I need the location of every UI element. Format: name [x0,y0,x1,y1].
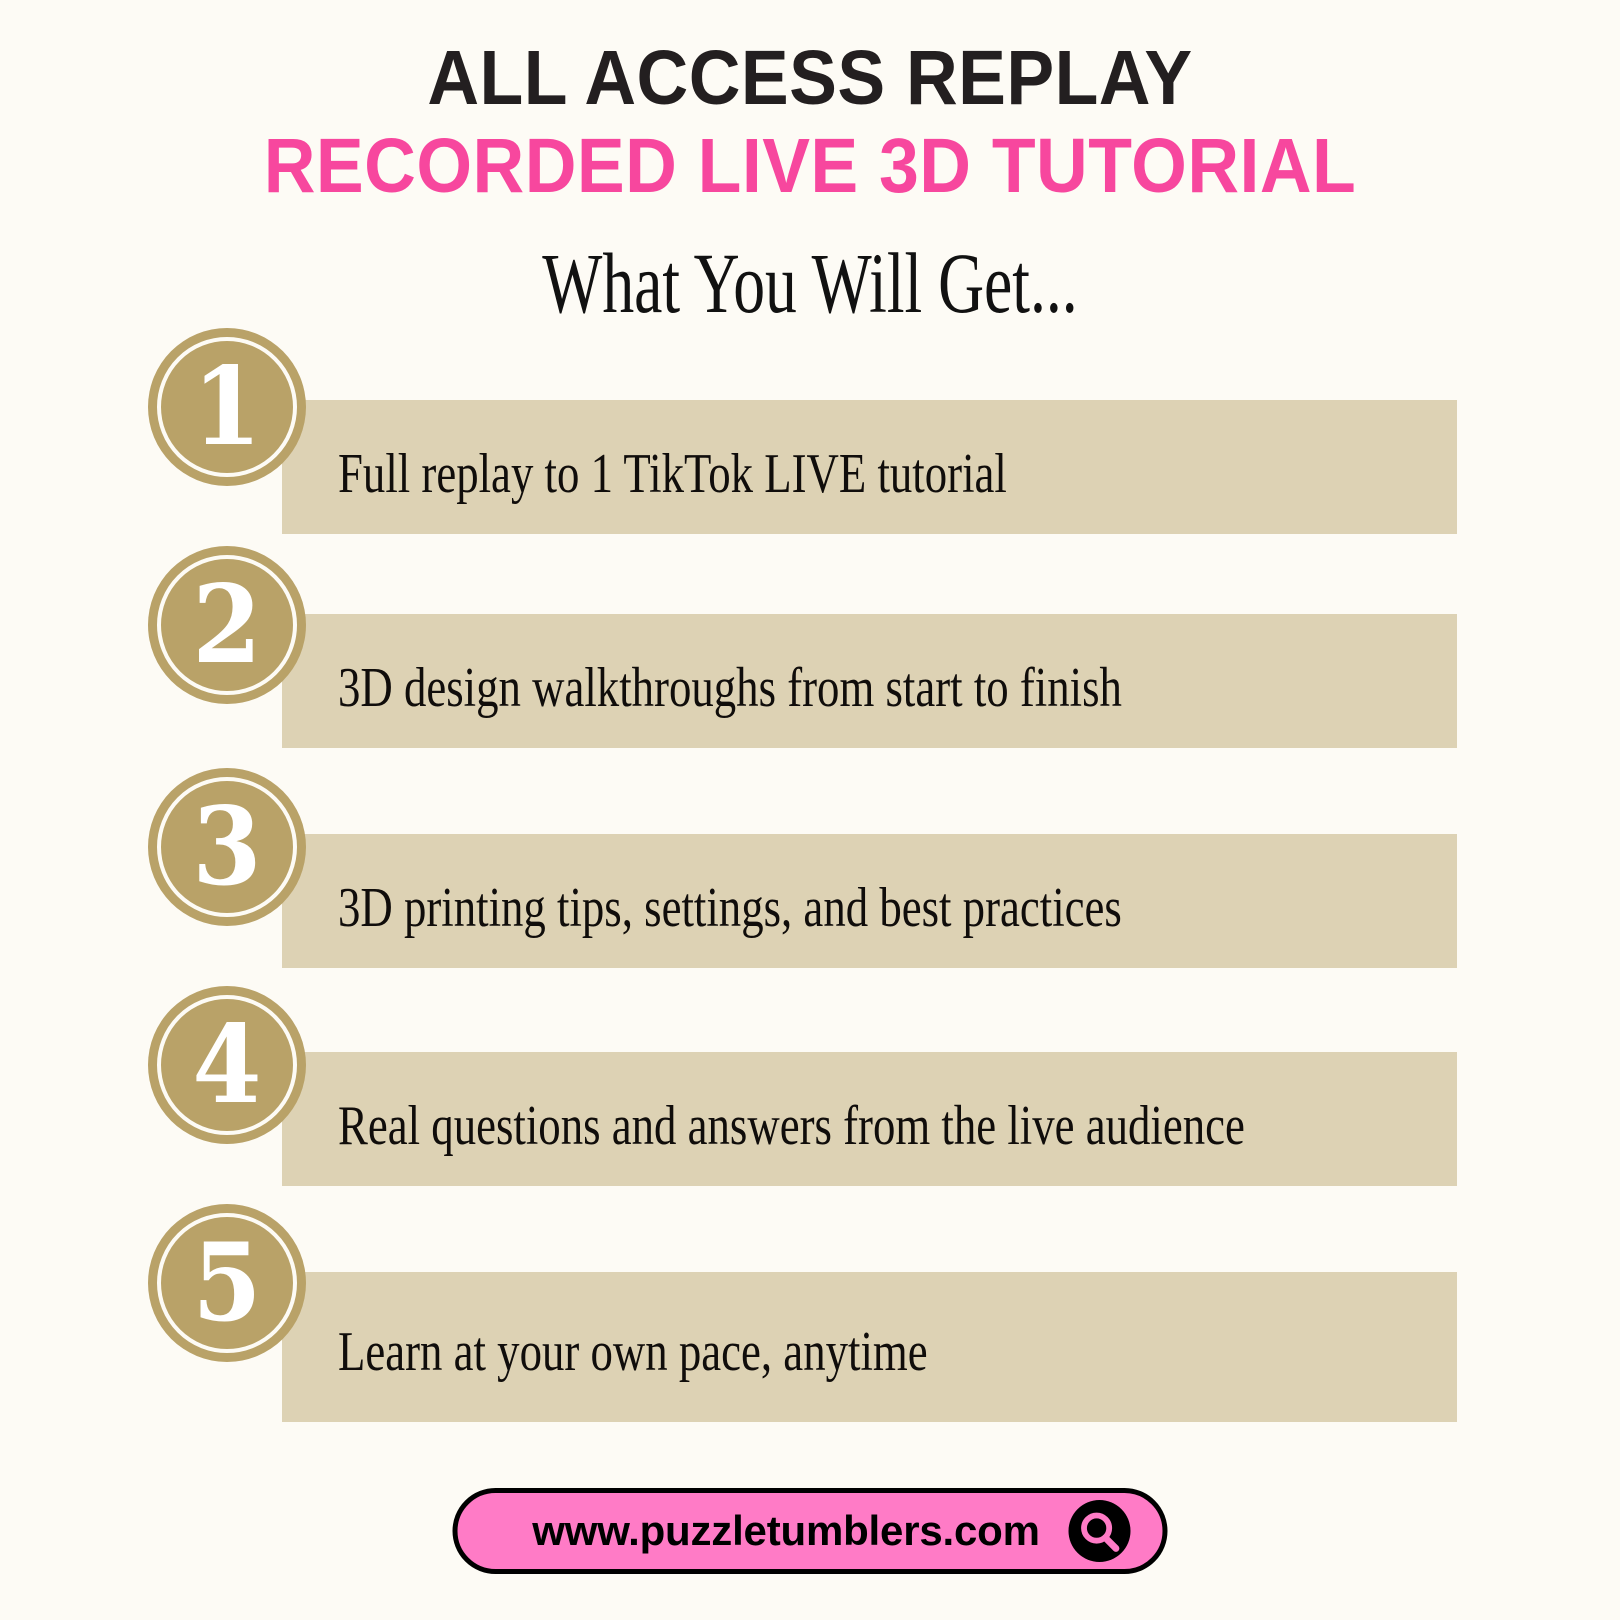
header-block: ALL ACCESS REPLAY RECORDED LIVE 3D TUTOR… [0,38,1620,207]
list-item-label: Learn at your own pace, anytime [338,1324,1242,1380]
list-item: Learn at your own pace, anytime 5 [0,1272,1620,1486]
list-item-badge-4: 4 [148,986,306,1144]
badge-number: 4 [154,986,299,1144]
list-item-badge-3: 3 [148,768,306,926]
search-icon[interactable] [1069,1500,1131,1562]
website-pill-button[interactable]: www.puzzletumblers.com [453,1488,1168,1574]
badge-number: 3 [154,768,299,926]
list-item-badge-1: 1 [148,328,306,486]
list-item-badge-5: 5 [148,1204,306,1362]
page-subtitle: What You Will Get... [211,240,1410,326]
website-url-label: www.puzzletumblers.com [532,1507,1039,1555]
badge-number: 2 [154,546,299,704]
poster-canvas: ALL ACCESS REPLAY RECORDED LIVE 3D TUTOR… [0,0,1620,1620]
list-item-label: 3D printing tips, settings, and best pra… [338,880,1242,936]
list-item-label: 3D design walkthroughs from start to fin… [338,660,1242,716]
badge-number: 1 [154,328,299,486]
list-item-label: Real questions and answers from the live… [338,1098,1242,1154]
list-item-label: Full replay to 1 TikTok LIVE tutorial [338,446,1242,502]
list-item-badge-2: 2 [148,546,306,704]
page-title-line1: ALL ACCESS REPLAY [57,38,1564,120]
page-title-line2: RECORDED LIVE 3D TUTORIAL [57,126,1564,208]
badge-number: 5 [154,1204,299,1362]
benefits-list: Full replay to 1 TikTok LIVE tutorial 1 … [0,400,1620,1470]
